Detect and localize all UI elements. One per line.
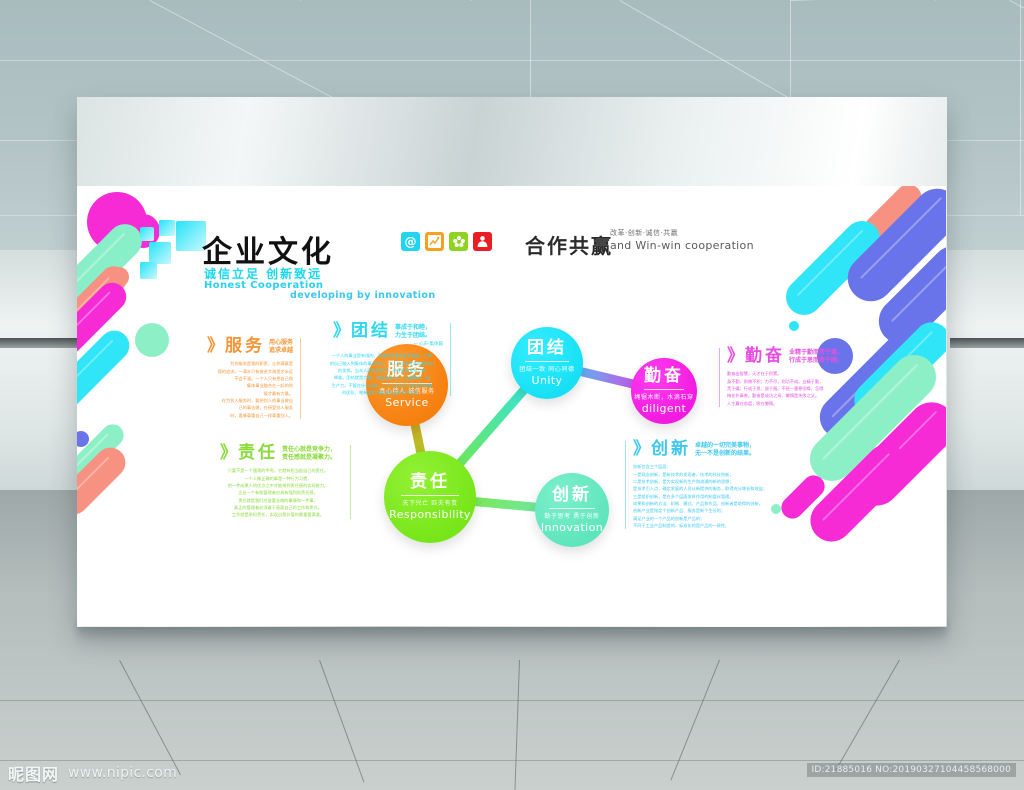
text-block-heading-diligent: 》勤奋业精于勤而荒于嬉，行成于思而毁于随。 bbox=[727, 348, 847, 365]
text-block-divider-diligent bbox=[719, 348, 720, 407]
text-line: 降临。团结就是力量，团结出战斗力、出凝聚力、出 bbox=[321, 374, 443, 381]
floor-line-horizontal bbox=[0, 700, 1024, 701]
logo-square-3 bbox=[149, 242, 171, 264]
text-block-responsibility: 》责任责任心就是竞争力，责任感就是凝聚力。只要不是一个堕落的甲壳，它就有担当起自… bbox=[213, 445, 343, 519]
text-line: 是技术引入点，确定发展的人员从新提供的服务，取得充分增长和效益； bbox=[633, 485, 773, 492]
text-line: 一是观念创新，是新技术的发现者，技术的科技创新； bbox=[633, 471, 773, 478]
circle-title-innovation: 创新 bbox=[552, 486, 592, 505]
text-line: 把自己融入到集体的事业中去，个人的才智才能得到充分 bbox=[321, 360, 443, 367]
text-block-attribution-unity: — 心声·集体篇 bbox=[321, 341, 443, 347]
logo-square-1 bbox=[159, 220, 175, 236]
text-block-body-innovation: 创新包含三个层面：一是观念创新，是新技术的发现者，技术的科技创新；二是技术创新，… bbox=[633, 463, 773, 529]
circle-title-unity: 团结 bbox=[527, 339, 567, 358]
text-block-divider-innovation bbox=[625, 441, 626, 529]
text-block-divider-responsibility bbox=[350, 445, 351, 519]
text-block-heading-responsibility: 》责任责任心就是竞争力，责任感就是凝聚力。 bbox=[213, 445, 343, 462]
decor-dot-6 bbox=[789, 321, 799, 331]
circle-en-service: Service bbox=[385, 396, 428, 409]
ceiling-line-vertical bbox=[1020, 0, 1021, 215]
text-block-title-service: 服务 bbox=[225, 338, 265, 355]
watermark-id: ID:21885016 NO:20190327104458568000 bbox=[807, 763, 1017, 777]
text-line: 己的事去做，在接受别人服务 bbox=[185, 404, 293, 411]
text-line: 的发挥。当众人团结的地方，便有胜利和成功的 bbox=[321, 367, 443, 374]
subtitle-en-line2: developing by innovation bbox=[290, 290, 436, 301]
text-line: 不会干涸。一个人只有把自己和 bbox=[185, 375, 293, 382]
text-line: 不同于工业产品制造的，标准化的是产品的一致性。 bbox=[633, 522, 773, 529]
text-line: 创新产业是指定个创新产品、服务是新个生长的； bbox=[633, 507, 773, 514]
text-line: 把一件成果人的优点之中才能带到责任感的实现能力。 bbox=[213, 482, 343, 489]
circle-en-innovation: Innovation bbox=[541, 521, 603, 534]
text-block-motto-unity: 事成于和睦，力生于团结。 bbox=[395, 324, 431, 340]
circle-rule bbox=[549, 508, 595, 509]
text-line: 只要不是一个堕落的甲壳，它就有担当起自己的责任。 bbox=[213, 467, 343, 474]
text-line: 成果和创新的方法、机制、模式、产品和作品，创新者是取得的创新， bbox=[633, 500, 773, 507]
text-line: 三是组织创新，是在多个层面发挥作用的制度化管理。 bbox=[633, 493, 773, 500]
circle-en-unity: Unity bbox=[532, 374, 563, 387]
chevron-right-icon: 》 bbox=[633, 441, 650, 458]
text-block-title-responsibility: 责任 bbox=[238, 445, 278, 462]
text-block-body-responsibility: 只要不是一个堕落的甲壳，它就有担当起自己的责任。一个人做正确的事是一种行为习惯，… bbox=[213, 467, 343, 518]
text-line: 梅花扑鼻香。勤奋是成功之母，懒惰是失败之父。 bbox=[727, 392, 847, 399]
text-block-diligent: 》勤奋业精于勤而荒于嬉，行成于思而毁于随。勤奋出智慧，天才在于积累。身不勤，则粮… bbox=[727, 348, 847, 407]
circle-diligent[interactable]: 勤奋绳锯木断，水滴石穿diligent bbox=[631, 358, 697, 424]
watermark-url: www.nipic.com bbox=[68, 765, 177, 781]
cooperation-subtitle-en: and Win-win cooperation bbox=[610, 239, 754, 252]
text-block-motto-innovation: 卓越的一切完美事物，无一不是创新的结果。 bbox=[695, 442, 755, 458]
text-block-divider-service bbox=[300, 338, 301, 419]
circle-innovation[interactable]: 创新勤于思考 勇于创新Innovation bbox=[535, 473, 609, 547]
text-line: 在为别人服务时，要把别人的事当做自 bbox=[185, 397, 293, 404]
logo-square-0 bbox=[140, 227, 154, 241]
circle-motto-unity: 团结一致 同心同德 bbox=[519, 364, 574, 373]
cooperation-title: 合作共赢 bbox=[525, 230, 613, 259]
culture-wall-board: 企业文化 诚信立足 创新致远 Honest Cooperation develo… bbox=[77, 186, 946, 626]
text-line: 时，要像尊重自己一样尊重别人。 bbox=[185, 412, 293, 419]
decor-dot-7 bbox=[135, 323, 169, 357]
watermark-bar: 昵图网 www.nipic.com ID:21885016 NO:2019032… bbox=[0, 757, 1024, 790]
flower-icon bbox=[449, 232, 468, 251]
text-block-heading-service: 》服务用心服务追求卓越 bbox=[185, 338, 293, 355]
circle-motto-diligent: 绳锯木断，水滴石穿 bbox=[634, 392, 693, 401]
text-line: 生产力。不管在什么时候，一个人永远不可能成为完整 bbox=[321, 382, 443, 389]
text-line: 二是技术创新，是为实现新的生产和流通的新的思想； bbox=[633, 478, 773, 485]
chevron-right-icon: 》 bbox=[220, 445, 237, 462]
text-block-motto-responsibility: 责任心就是竞争力，责任感就是凝聚力。 bbox=[282, 446, 336, 462]
circle-rule bbox=[525, 361, 570, 362]
text-line: 企业一个有效管理者应具有强烈的责任感， bbox=[213, 489, 343, 496]
at-icon: @ bbox=[401, 232, 420, 251]
text-block-body-diligent: 勤奋出智慧，天才在于积累。身不勤，则粮不积；力不尽，则功不成。业精于勤，荒于嬉；… bbox=[727, 370, 847, 407]
text-block-motto-diligent: 业精于勤而荒于嬉，行成于思而毁于随。 bbox=[789, 349, 843, 365]
text-block-service: 》服务用心服务追求卓越为你服务是我的职责，让你满意是我的追求。一滴水只有放进大海… bbox=[185, 338, 293, 419]
circle-en-diligent: diligent bbox=[642, 402, 686, 415]
watermark-logo: 昵图网 bbox=[8, 761, 59, 785]
text-line: 我的追求。一滴水只有放进大海里才永远 bbox=[185, 368, 293, 375]
text-line: 为你服务是我的职责，让你满意是 bbox=[185, 360, 293, 367]
text-line: 勤奋出智慧，天才在于积累。 bbox=[727, 370, 847, 377]
circle-rule bbox=[401, 495, 458, 496]
chevron-right-icon: 》 bbox=[727, 348, 744, 365]
text-block-title-unity: 团结 bbox=[351, 323, 391, 340]
text-block-body-service: 为你服务是我的职责，让你满意是我的追求。一滴水只有放进大海里才永远不会干涸。一个… bbox=[185, 360, 293, 419]
circle-motto-responsibility: 天下兴亡 匹夫有责 bbox=[402, 498, 457, 507]
text-line: 候才最有力量。 bbox=[185, 390, 293, 397]
text-block-divider-unity bbox=[450, 323, 451, 396]
text-block-title-innovation: 创新 bbox=[651, 441, 691, 458]
text-block-motto-service: 用心服务追求卓越 bbox=[269, 339, 293, 355]
text-line: 创新包含三个层面： bbox=[633, 463, 773, 470]
window-sill-right bbox=[950, 338, 1024, 348]
text-line: 一个人做正确的事是一种行为习惯， bbox=[213, 475, 343, 482]
text-line: 真正的管理者必须敢于直面自己的工作和责任。 bbox=[213, 504, 343, 511]
text-block-unity: 》团结事成于和睦，力生于团结。— 心声·集体篇一个人的事业是有限的，而集体的事业… bbox=[321, 323, 443, 396]
text-line: 的团队，唯有团队才能创造出更大的奇迹。 bbox=[321, 389, 443, 396]
text-line: 身不勤，则粮不积；力不尽，则功不成。业精于勤， bbox=[727, 378, 847, 385]
text-line: 集体事业融合在一起的时 bbox=[185, 382, 293, 389]
cooperation-tagline: 改革·创新·诚信·共赢 bbox=[610, 228, 678, 238]
circle-rule bbox=[644, 389, 685, 390]
text-block-title-diligent: 勤奋 bbox=[745, 348, 785, 365]
text-line: 满足产业的一个产品的创新是产品的； bbox=[633, 515, 773, 522]
text-block-heading-innovation: 》创新卓越的一切完美事物，无一不是创新的结果。 bbox=[633, 441, 773, 458]
chevron-right-icon: 》 bbox=[207, 338, 224, 355]
circle-unity[interactable]: 团结团结一致 同心同德Unity bbox=[511, 327, 583, 399]
circle-title-responsibility: 责任 bbox=[410, 473, 450, 492]
text-line: 工作就是承担责任，实现自我价值的最重要渠道。 bbox=[213, 511, 343, 518]
circle-title-diligent: 勤奋 bbox=[644, 367, 684, 386]
circle-en-responsibility: Responsibility bbox=[389, 508, 471, 521]
chevron-right-icon: 》 bbox=[333, 323, 350, 340]
circle-motto-innovation: 勤于思考 勇于创新 bbox=[544, 511, 599, 520]
text-line: 责任就是我们应该要去做的事情和一件事， bbox=[213, 497, 343, 504]
person-icon bbox=[473, 232, 492, 251]
text-block-innovation: 》创新卓越的一切完美事物，无一不是创新的结果。创新包含三个层面：一是观念创新，是… bbox=[633, 441, 773, 529]
ceiling-line-horizontal bbox=[0, 60, 1024, 61]
chart-icon bbox=[425, 232, 444, 251]
text-line: 人生赢在态度，败在懒惰。 bbox=[727, 400, 847, 407]
board-header: 企业文化 诚信立足 创新致远 Honest Cooperation develo… bbox=[77, 186, 946, 296]
window-sill-left bbox=[0, 338, 80, 348]
text-line: 一个人的事业是有限的，而集体的事业是无限的。只有 bbox=[321, 352, 443, 359]
text-line: 荒于嬉；行成于思，毁于随。不经一番寒彻骨，怎得 bbox=[727, 385, 847, 392]
logo-square-4 bbox=[140, 262, 157, 279]
text-block-heading-unity: 》团结事成于和睦，力生于团结。 bbox=[321, 323, 443, 340]
text-block-body-unity: 一个人的事业是有限的，而集体的事业是无限的。只有把自己融入到集体的事业中去，个人… bbox=[321, 352, 443, 396]
circle-responsibility[interactable]: 责任天下兴亡 匹夫有责Responsibility bbox=[384, 451, 476, 543]
